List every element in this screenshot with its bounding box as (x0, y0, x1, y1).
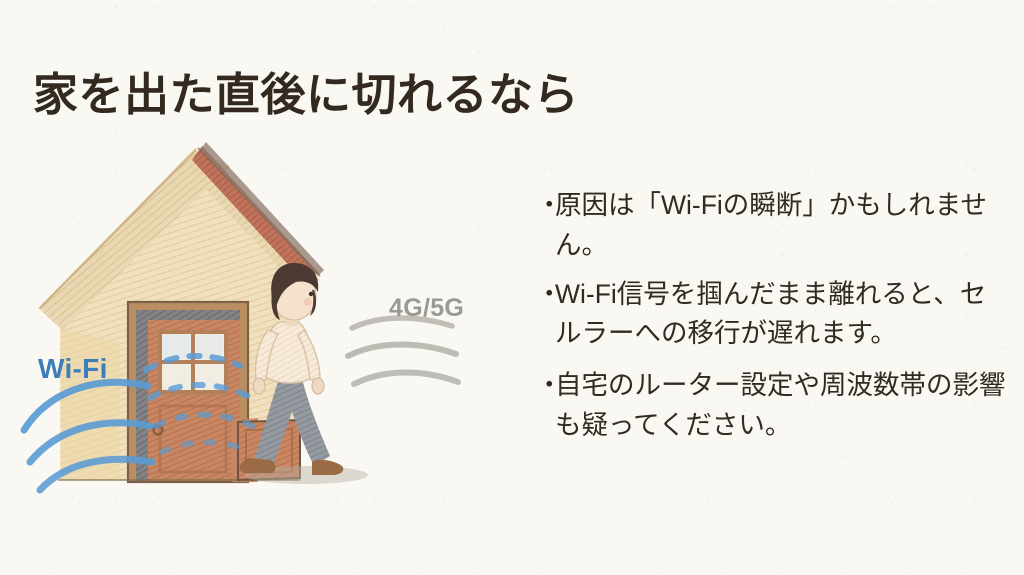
wifi-label: Wi-Fi (38, 353, 108, 385)
bullet-text: 自宅のルーター設定や周波数帯の影響も疑ってください。 (555, 366, 1006, 446)
bullet-marker: ・ (536, 275, 555, 355)
page-title: 家を出た直後に切れるなら (33, 68, 579, 122)
list-item: ・ Wi-Fi信号を掴んだまま離れると、セルラーへの移行が遅れます。 (536, 275, 1006, 355)
bullet-marker: ・ (536, 366, 555, 446)
bullet-text: 原因は「Wi-Fiの瞬断」かもしれません。 (555, 186, 1006, 266)
cellular-label: 4G/5G (389, 294, 464, 323)
bullet-list: ・ 原因は「Wi-Fiの瞬断」かもしれません。 ・ Wi-Fi信号を掴んだまま離… (536, 186, 1006, 446)
bullet-marker: ・ (536, 186, 555, 266)
cellular-waves (348, 318, 458, 384)
illustration-person-leaving-house (0, 130, 520, 530)
bullet-text: Wi-Fi信号を掴んだまま離れると、セルラーへの移行が遅れます。 (555, 275, 1006, 355)
list-item: ・ 原因は「Wi-Fiの瞬断」かもしれません。 (536, 186, 1006, 266)
list-item: ・ 自宅のルーター設定や周波数帯の影響も疑ってください。 (536, 366, 1006, 446)
